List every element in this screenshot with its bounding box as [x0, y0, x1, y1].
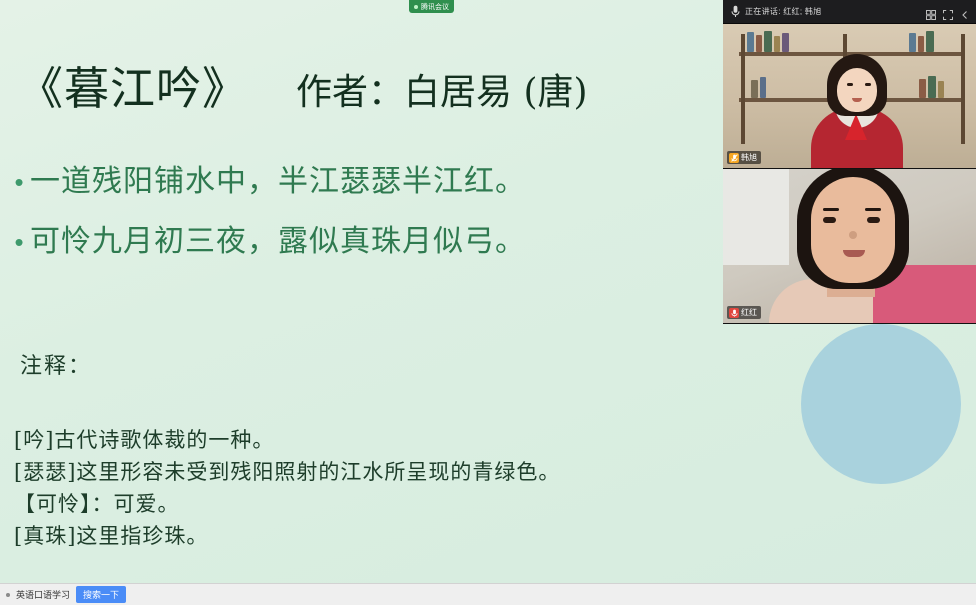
book — [774, 36, 780, 52]
poem-bullet-list: • 一道残阳铺水中，半江瑟瑟半江红。 • 可怜九月初三夜，露似真珠月似弓。 — [8, 160, 718, 280]
book — [751, 80, 758, 98]
bullet-dot-icon: • — [8, 220, 30, 264]
person-mouth — [843, 250, 865, 257]
list-item: • 一道残阳铺水中，半江瑟瑟半江红。 — [8, 160, 718, 204]
microphone-muted-icon — [729, 153, 739, 163]
book — [909, 33, 916, 52]
fullscreen-icon[interactable] — [943, 7, 953, 17]
video-tile-honghong[interactable]: 红红 — [723, 169, 976, 324]
poem-line: 一道残阳铺水中，半江瑟瑟半江红。 — [30, 160, 526, 204]
book — [760, 77, 766, 98]
person-face — [811, 177, 895, 283]
avatar[interactable] — [801, 324, 961, 484]
shelf-post — [961, 34, 965, 144]
book — [928, 76, 936, 98]
list-item: • 可怜九月初三夜，露似真珠月似弓。 — [8, 220, 718, 264]
bullet-dot-icon: • — [8, 160, 30, 204]
person-eye — [867, 217, 880, 223]
collapse-icon[interactable] — [960, 7, 970, 17]
participant-name: 韩旭 — [741, 152, 757, 163]
book — [747, 32, 754, 52]
screen-root: 《暮江吟》 作者：白居易 (唐) • 一道残阳铺水中，半江瑟瑟半江红。 • 可怜… — [0, 0, 976, 605]
taskbar-item-label[interactable]: 英语口语学习 — [16, 588, 70, 601]
shelf-post — [741, 34, 745, 144]
task-indicator-dot-icon — [6, 593, 10, 597]
book — [926, 31, 934, 52]
notes-heading: 注释： — [20, 348, 92, 380]
person-nose — [849, 231, 857, 239]
person-eyebrow — [865, 208, 881, 211]
book — [918, 36, 924, 52]
grid-view-icon[interactable] — [926, 7, 936, 17]
slide-heading: 《暮江吟》 作者：白居易 (唐) — [18, 52, 718, 117]
participant-name-tag: 韩旭 — [727, 151, 761, 164]
person-face — [837, 68, 877, 112]
video-tile-hanxu[interactable]: 韩旭 — [723, 24, 976, 169]
book — [764, 31, 772, 52]
person-eye — [847, 83, 853, 86]
meeting-status-pill[interactable]: 腾讯会议 — [409, 0, 454, 13]
video-panel: 正在讲话: 红红; 韩旭 — [723, 0, 976, 324]
person-eyebrow — [823, 208, 839, 211]
person-eye — [823, 217, 836, 223]
note-line: [真珠]这里指珍珠。 — [14, 520, 734, 552]
poem-author: 作者：白居易 (唐) — [296, 63, 588, 115]
book — [782, 33, 789, 52]
window-light — [723, 169, 789, 265]
recording-dot-icon — [414, 5, 418, 9]
poem-title: 《暮江吟》 — [18, 52, 248, 117]
book — [938, 81, 944, 98]
participant-name-tag: 红红 — [727, 306, 761, 319]
note-line: 【可怜】：可爱。 — [14, 488, 734, 520]
active-speaker-bar: 正在讲话: 红红; 韩旭 — [723, 0, 976, 24]
search-button[interactable]: 搜索一下 — [76, 586, 126, 603]
poem-line: 可怜九月初三夜，露似真珠月似弓。 — [30, 220, 526, 264]
notes-list: [吟]古代诗歌体裁的一种。 [瑟瑟]这里形容未受到残阳照射的江水所呈现的青绿色。… — [14, 424, 734, 552]
person-eye — [865, 83, 871, 86]
video-bar-controls — [926, 0, 970, 24]
taskbar: 英语口语学习 搜索一下 — [0, 583, 976, 605]
book — [756, 35, 762, 52]
note-line: [吟]古代诗歌体裁的一种。 — [14, 424, 734, 456]
microphone-icon — [729, 308, 739, 318]
meeting-app-label: 腾讯会议 — [421, 2, 449, 12]
participant-name: 红红 — [741, 307, 757, 318]
book — [919, 79, 926, 98]
microphone-icon — [731, 5, 740, 18]
note-line: [瑟瑟]这里形容未受到残阳照射的江水所呈现的青绿色。 — [14, 456, 734, 488]
active-speaker-label: 正在讲话: 红红; 韩旭 — [745, 6, 822, 17]
